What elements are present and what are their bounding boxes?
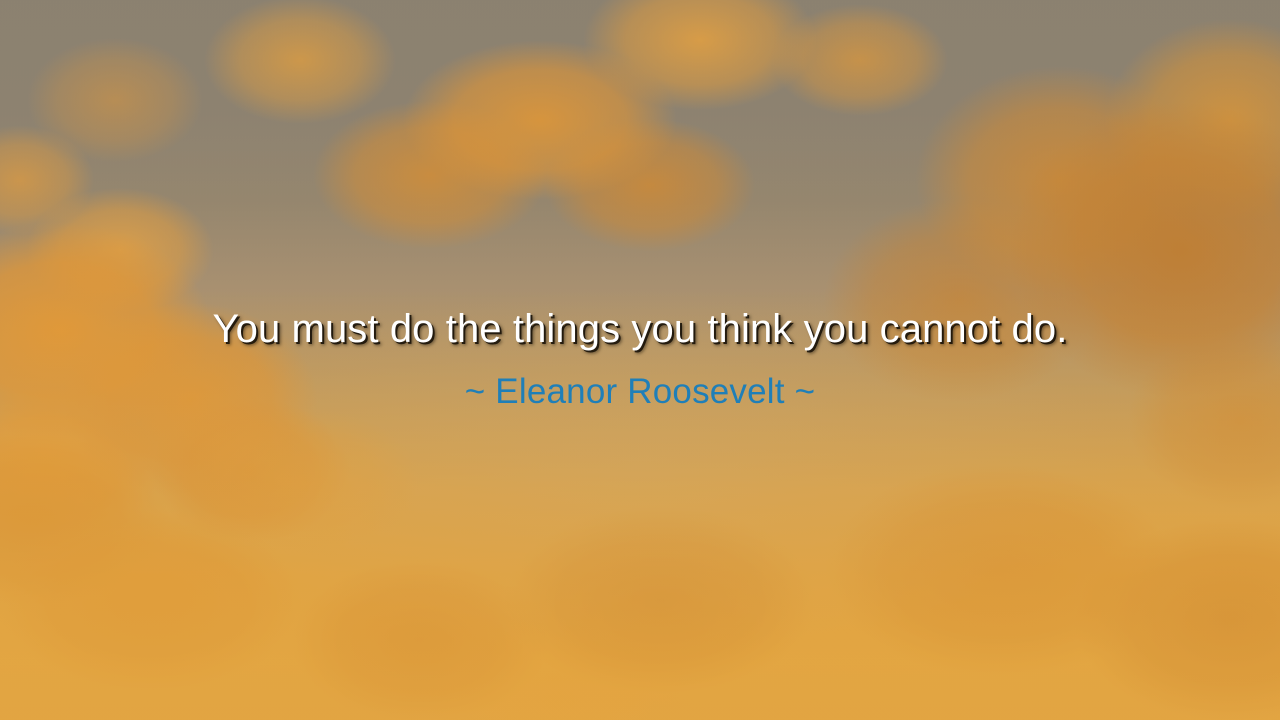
wallpaper-quote-screen: You must do the things you think you can… [0, 0, 1280, 720]
sky-haze-overlay [0, 0, 1280, 720]
